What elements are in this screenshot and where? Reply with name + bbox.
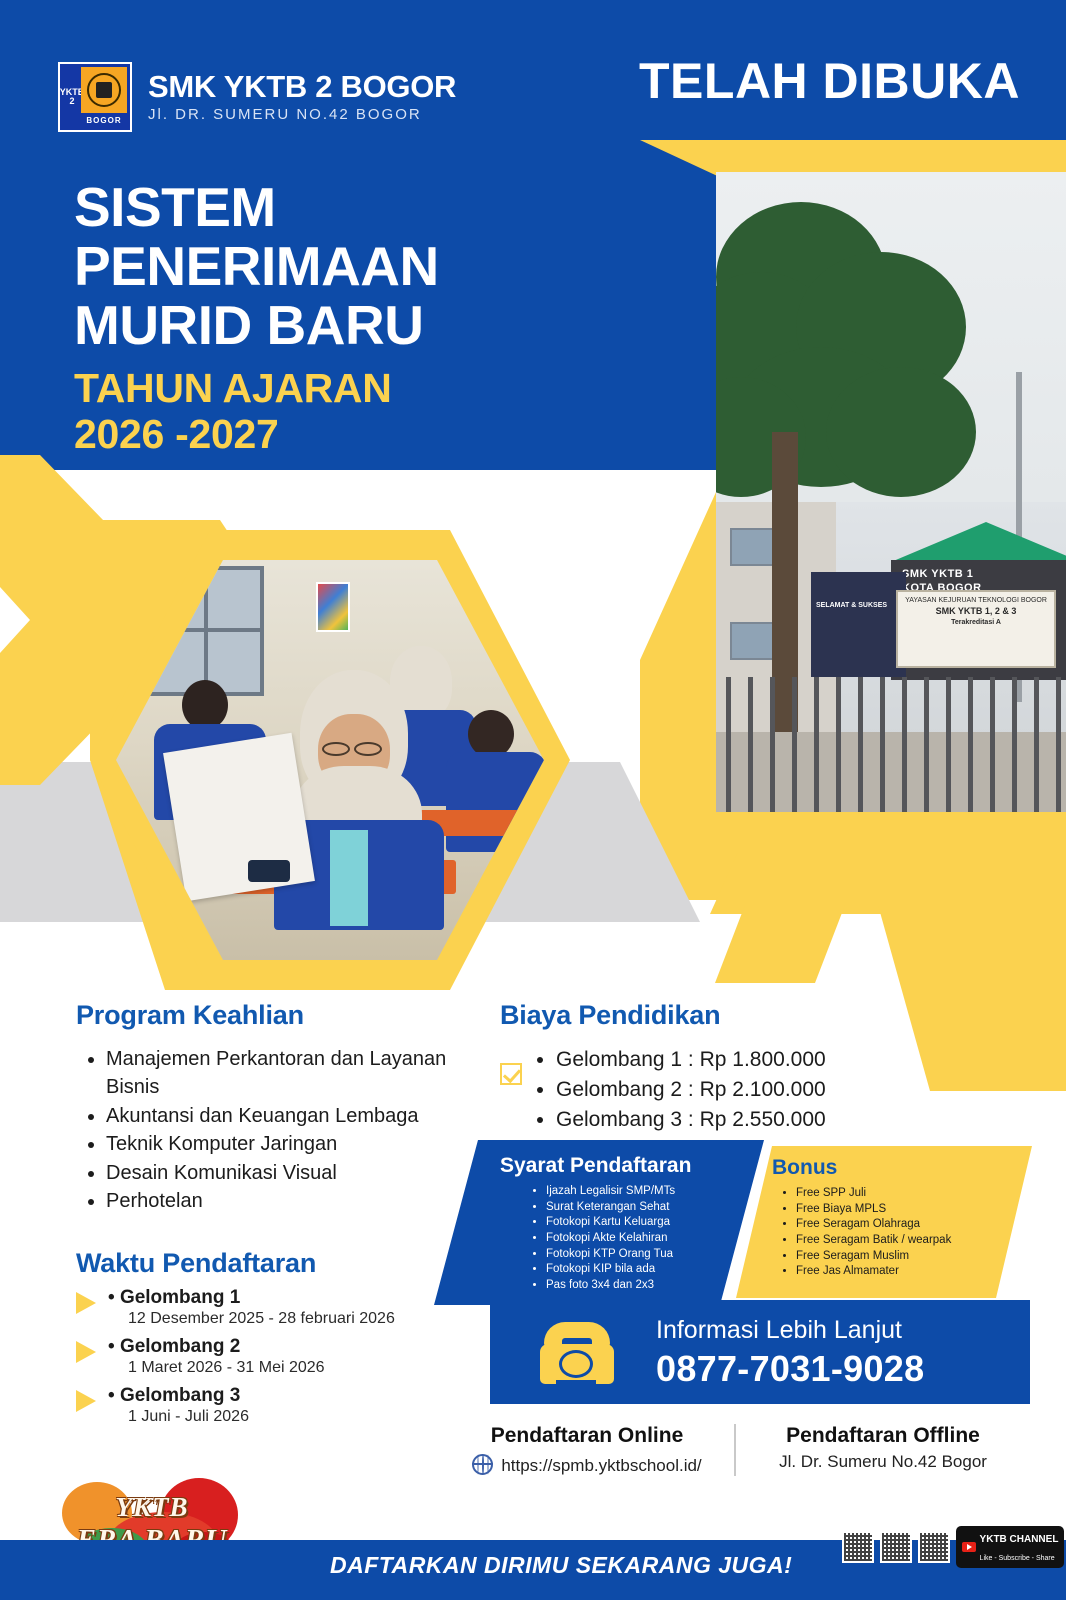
schedule-wave-label: Gelombang 1 xyxy=(108,1287,496,1309)
list-item: Gelombang 1 : Rp 1.800.000 xyxy=(556,1045,826,1075)
registration-online: Pendaftaran Online https://spmb.yktbscho… xyxy=(440,1424,736,1476)
registration-online-url[interactable]: https://spmb.yktbschool.id/ xyxy=(501,1456,701,1476)
globe-icon xyxy=(472,1454,493,1475)
list-item: Free Seragam Olahraga xyxy=(796,1217,951,1233)
list-item: Gelombang 1 12 Desember 2025 - 28 februa… xyxy=(76,1287,496,1328)
exam-paper xyxy=(163,733,315,901)
social-media-label: MEDIA SOSIAL xyxy=(840,1512,1066,1522)
logo-side-text: YKTB 2 xyxy=(63,67,81,127)
list-item: Desain Komunikasi Visual xyxy=(106,1159,476,1187)
social-media-section: MEDIA SOSIAL YKTB CHANNEL Like - Subscri… xyxy=(840,1512,1066,1568)
requirements-list: Ijazah Legalisir SMP/MTs Surat Keteranga… xyxy=(530,1184,675,1293)
board-line-2: SMK YKTB 1, 2 & 3 xyxy=(900,605,1052,617)
school-logo: YKTB 2 BOGOR xyxy=(58,62,132,132)
list-item: Gelombang 2 : Rp 2.100.000 xyxy=(556,1075,826,1105)
school-name: SMK YKTB 2 BOGOR xyxy=(148,71,456,104)
registration-offline: Pendaftaran Offline Jl. Dr. Sumeru No.42… xyxy=(736,1424,1030,1476)
programs-list: Manajemen Perkantoran dan Layanan Bisnis… xyxy=(76,1045,476,1215)
qr-code-icon[interactable] xyxy=(842,1531,874,1563)
smartphone xyxy=(248,860,290,882)
list-item: Fotokopi KTP Orang Tua xyxy=(546,1247,675,1263)
list-item: Fotokopi Kartu Keluarga xyxy=(546,1215,675,1231)
list-item: Ijazah Legalisir SMP/MTs xyxy=(546,1184,675,1200)
programs-section: Program Keahlian Manajemen Perkantoran d… xyxy=(76,1000,476,1215)
list-item: Teknik Komputer Jaringan xyxy=(106,1130,476,1158)
schedule-wave-label: Gelombang 2 xyxy=(108,1336,496,1358)
board-line-3: Terakreditasi A xyxy=(900,618,1052,627)
headline-year-range: 2026 -2027 xyxy=(74,411,439,457)
telephone-icon xyxy=(534,1318,620,1386)
youtube-play-icon xyxy=(962,1542,976,1552)
list-item: Manajemen Perkantoran dan Layanan Bisnis xyxy=(106,1045,476,1102)
badge-line-1: YKTB xyxy=(52,1492,252,1523)
schedule-section: Waktu Pendaftaran Gelombang 1 12 Desembe… xyxy=(76,1248,496,1426)
crest-circle-icon xyxy=(87,73,121,107)
youtube-channel-title: YKTB CHANNEL xyxy=(980,1534,1059,1545)
list-item: Free SPP Juli xyxy=(796,1186,951,1202)
photo-window xyxy=(730,622,776,660)
school-photo: SMK YKTB 1 KOTA BOGOR SELAMAT & SUKSES Y… xyxy=(716,172,1066,812)
requirements-title: Syarat Pendaftaran xyxy=(500,1154,691,1178)
headline-line-1: SISTEM xyxy=(74,178,439,237)
tuition-title: Biaya Pendidikan xyxy=(500,1000,970,1031)
list-item: Gelombang 3 : Rp 2.550.000 xyxy=(556,1105,826,1135)
registration-footer: Pendaftaran Online https://spmb.yktbscho… xyxy=(440,1424,1030,1476)
qr-code-icon[interactable] xyxy=(918,1531,950,1563)
logo-number: 2 xyxy=(69,97,74,106)
youtube-channel-subtitle: Like - Subscribe - Share xyxy=(980,1555,1055,1562)
crest-icon xyxy=(81,67,127,113)
qr-code-icon[interactable] xyxy=(880,1531,912,1563)
contact-phone-number[interactable]: 0877-7031-9028 xyxy=(656,1348,924,1390)
list-item: Fotokopi Akte Kelahiran xyxy=(546,1231,675,1247)
registration-online-title: Pendaftaran Online xyxy=(454,1424,720,1448)
list-item: Free Seragam Batik / wearpak xyxy=(796,1233,951,1249)
brand-header: YKTB 2 BOGOR SMK YKTB 2 BOGOR Jl. DR. SU… xyxy=(58,62,456,132)
programs-title: Program Keahlian xyxy=(76,1000,476,1031)
checkbox-icon xyxy=(500,1063,522,1085)
photo-tree xyxy=(716,182,976,612)
schedule-title: Waktu Pendaftaran xyxy=(76,1248,496,1279)
tuition-section: Biaya Pendidikan Gelombang 1 : Rp 1.800.… xyxy=(500,1000,970,1136)
tuition-list: Gelombang 1 : Rp 1.800.000 Gelombang 2 :… xyxy=(540,1045,826,1136)
list-item: Free Seragam Muslim xyxy=(796,1249,951,1265)
photo-board-text: YAYASAN KEJURUAN TEKNOLOGI BOGOR SMK YKT… xyxy=(900,596,1052,627)
list-item: Fotokopi KIP bila ada xyxy=(546,1262,675,1278)
list-item: Gelombang 3 1 Juni - Juli 2026 xyxy=(76,1385,496,1426)
list-item: Akuntansi dan Keuangan Lembaga xyxy=(106,1102,476,1130)
registration-offline-title: Pendaftaran Offline xyxy=(750,1424,1016,1448)
school-address: Jl. DR. SUMERU NO.42 BOGOR xyxy=(148,106,456,123)
headline-line-3: MURID BARU xyxy=(74,296,439,355)
brand-text: SMK YKTB 2 BOGOR Jl. DR. SUMERU NO.42 BO… xyxy=(148,71,456,124)
schedule-wave-date: 1 Maret 2026 - 31 Mei 2026 xyxy=(128,1359,496,1377)
footer-tagline: DAFTARKAN DIRIMU SEKARANG JUGA! xyxy=(330,1552,792,1579)
list-item: Free Biaya MPLS xyxy=(796,1202,951,1218)
list-item: Surat Keterangan Sehat xyxy=(546,1200,675,1216)
list-item: Free Jas Almamater xyxy=(796,1264,951,1280)
triangle-bullet-icon xyxy=(76,1292,96,1314)
bonus-list: Free SPP Juli Free Biaya MPLS Free Serag… xyxy=(780,1186,951,1280)
crest-inner-icon xyxy=(96,82,112,98)
list-item: Perhotelan xyxy=(106,1187,476,1215)
bonus-panel: Bonus Free SPP Juli Free Biaya MPLS Free… xyxy=(736,1146,1032,1298)
tree-foliage xyxy=(826,367,976,497)
contact-label: Informasi Lebih Lanjut xyxy=(656,1316,902,1345)
social-media-row: YKTB CHANNEL Like - Subscribe - Share xyxy=(840,1526,1066,1568)
triangle-bullet-icon xyxy=(76,1390,96,1412)
schedule-wave-date: 12 Desember 2025 - 28 februari 2026 xyxy=(128,1310,496,1328)
bonus-title: Bonus xyxy=(772,1156,837,1180)
schedule-wave-label: Gelombang 3 xyxy=(108,1385,496,1407)
list-item: Gelombang 2 1 Maret 2026 - 31 Mei 2026 xyxy=(76,1336,496,1377)
tuition-row: Gelombang 1 : Rp 1.800.000 Gelombang 2 :… xyxy=(500,1045,970,1136)
page-title: SISTEM PENERIMAAN MURID BARU TAHUN AJARA… xyxy=(74,178,439,457)
photo-fence xyxy=(716,677,1066,812)
board-line-1: YAYASAN KEJURUAN TEKNOLOGI BOGOR xyxy=(900,596,1052,605)
contact-info-box: Informasi Lebih Lanjut 0877-7031-9028 xyxy=(490,1300,1030,1404)
classroom-wall-poster xyxy=(316,582,350,632)
youtube-channel-button[interactable]: YKTB CHANNEL Like - Subscribe - Share xyxy=(956,1526,1065,1568)
registration-offline-address: Jl. Dr. Sumeru No.42 Bogor xyxy=(750,1452,1016,1472)
registration-online-line[interactable]: https://spmb.yktbschool.id/ xyxy=(454,1452,720,1476)
logo-bogor-label: BOGOR xyxy=(81,113,127,127)
headline-line-2: PENERIMAAN xyxy=(74,237,439,296)
status-banner: TELAH DIBUKA xyxy=(639,52,1020,110)
list-item: Pas foto 3x4 dan 2x3 xyxy=(546,1278,675,1294)
logo-crest-wrap: BOGOR xyxy=(81,67,127,127)
accent-parallelogram-small xyxy=(715,905,845,983)
triangle-bullet-icon xyxy=(76,1341,96,1363)
headline-year-label: TAHUN AJARAN xyxy=(74,365,439,411)
accent-bar-top xyxy=(710,852,1066,914)
